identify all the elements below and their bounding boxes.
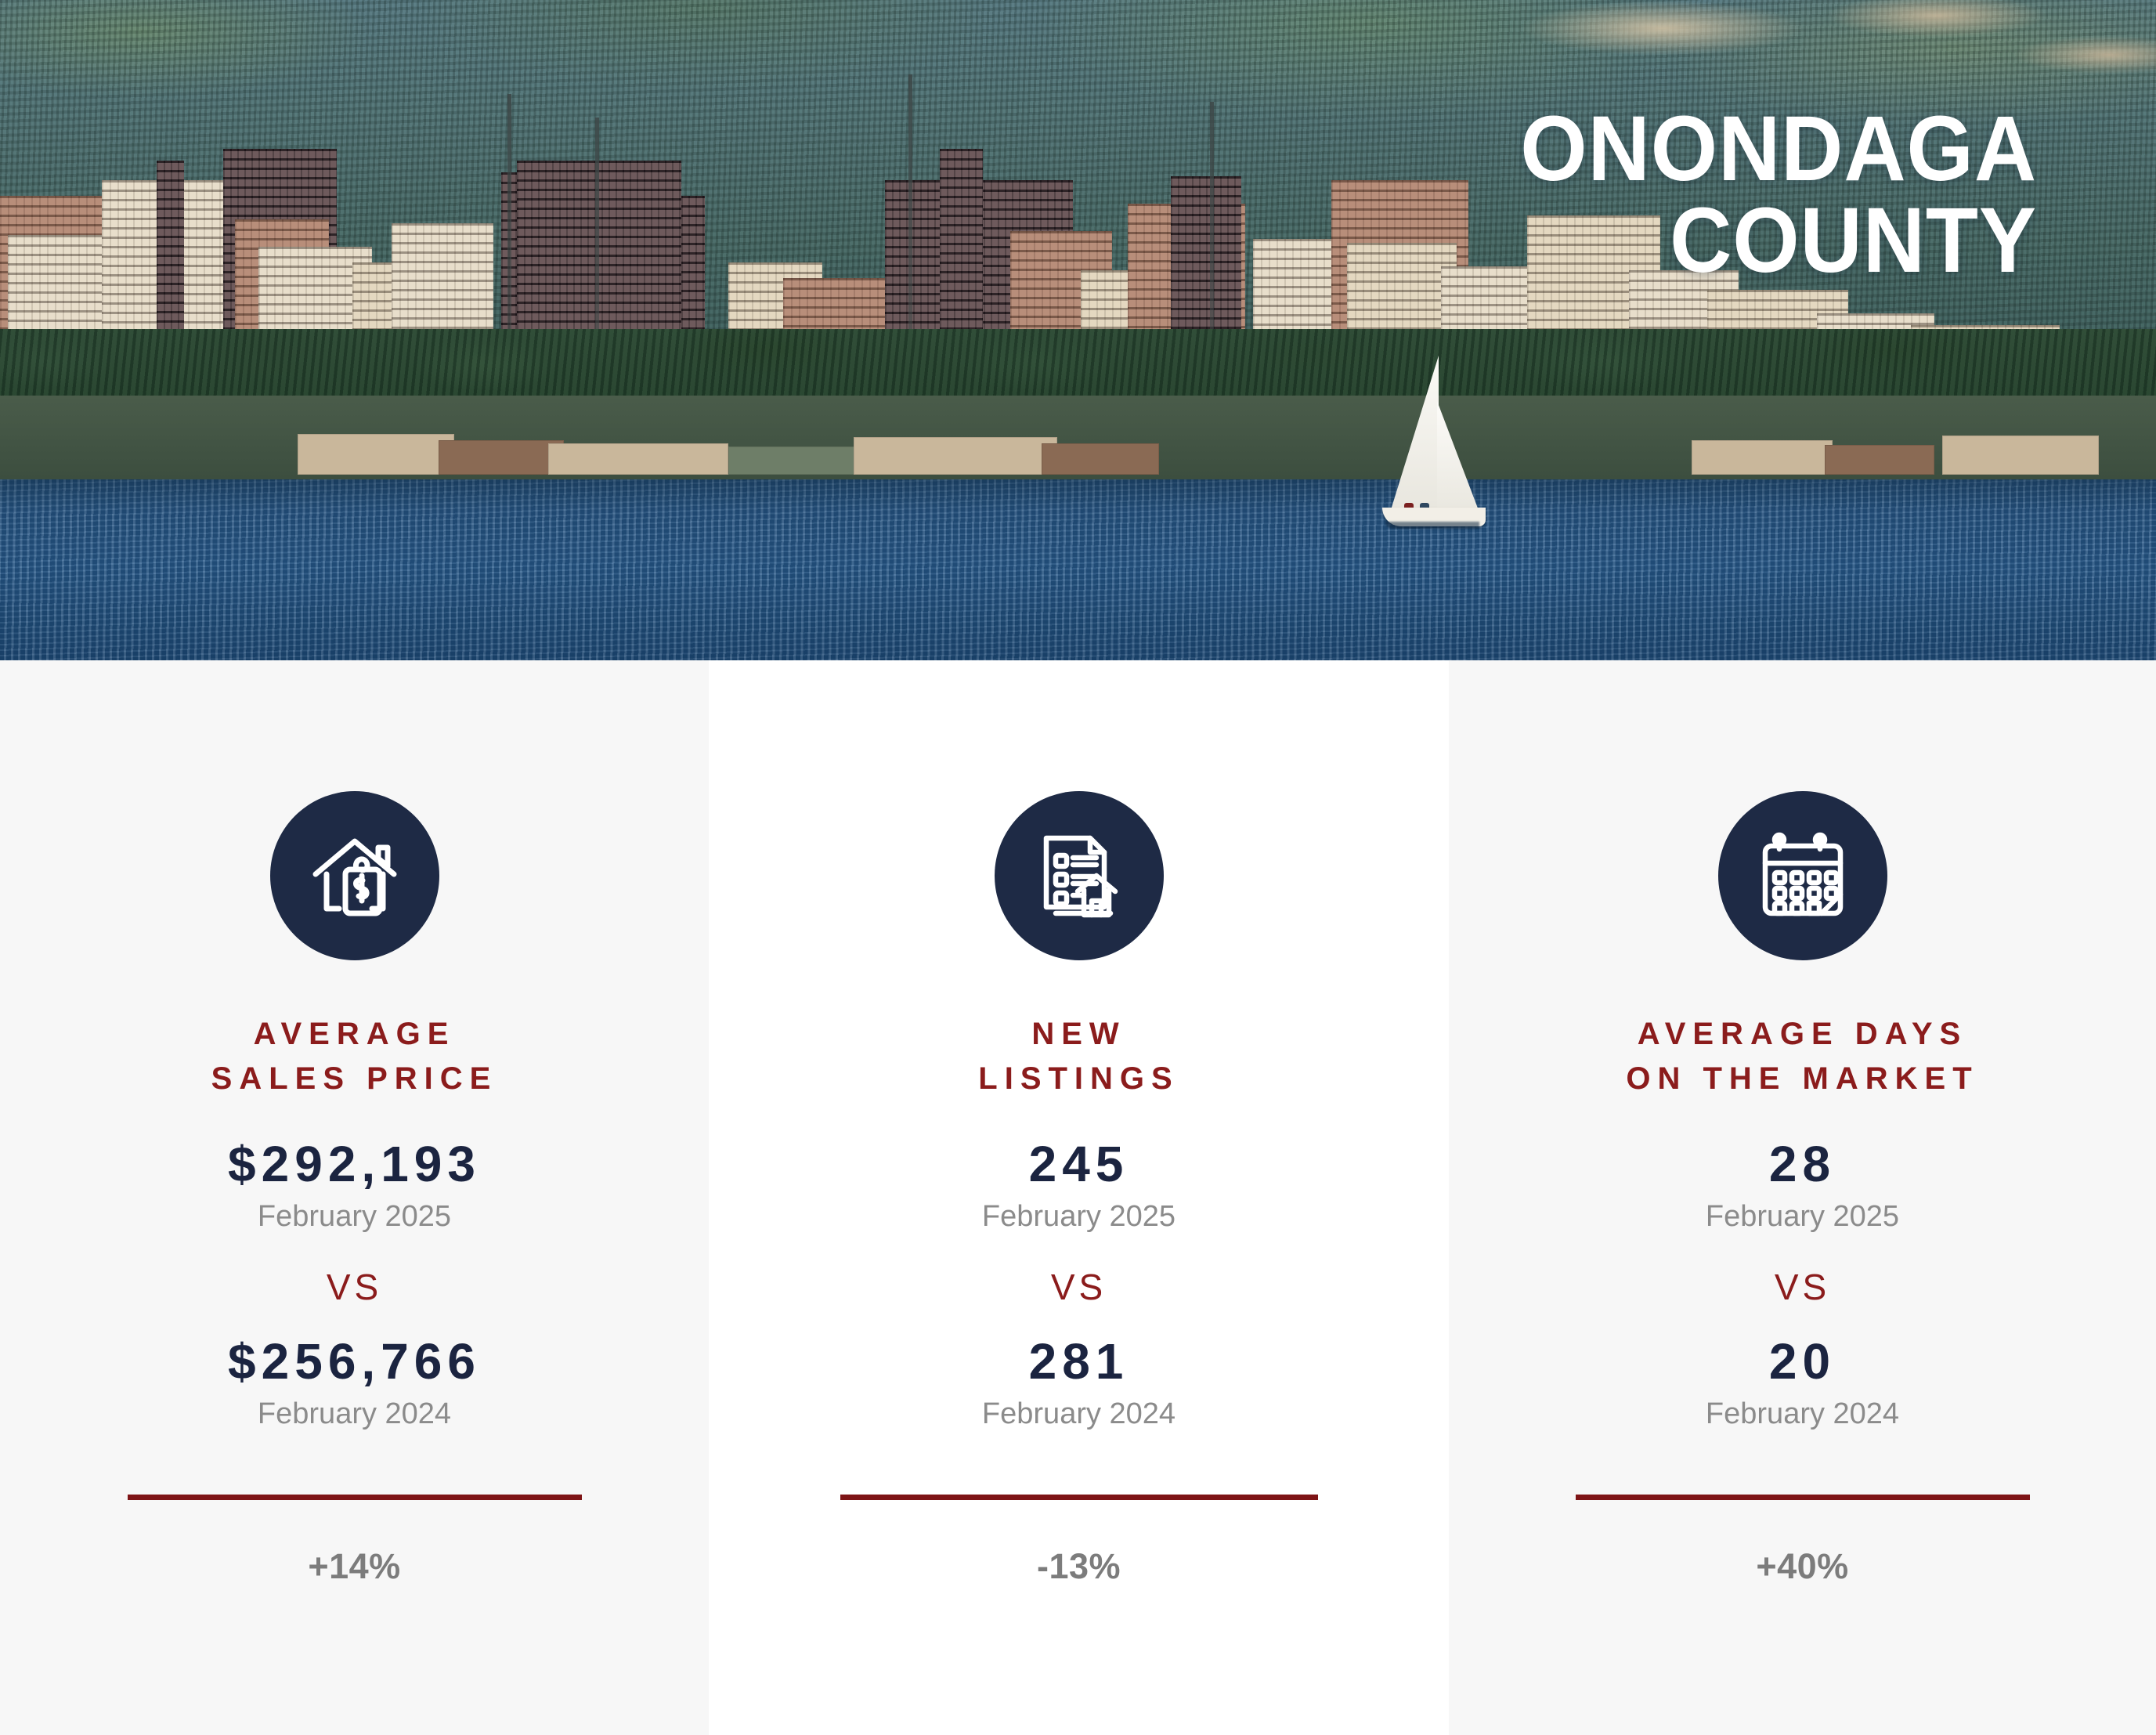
- listing-document-house-icon: [995, 791, 1164, 960]
- page-title: ONONDAGA COUNTY: [944, 103, 2037, 287]
- vs-label: VS: [327, 1269, 382, 1305]
- hero-banner: ONONDAGA COUNTY: [0, 0, 2156, 660]
- stat-card-title: AVERAGE SALES PRICE: [211, 1012, 498, 1101]
- calendar-icon: [1718, 791, 1887, 960]
- stat-card-title: NEW LISTINGS: [978, 1012, 1179, 1101]
- divider: [1576, 1495, 2030, 1500]
- divider: [128, 1495, 582, 1500]
- stat-card-average-days-on-market: AVERAGE DAYS ON THE MARKET 28 February 2…: [1449, 660, 2156, 1735]
- stat-card-new-listings: NEW LISTINGS 245 February 2025 VS 281 Fe…: [709, 660, 1449, 1735]
- title-line-1: ONONDAGA: [944, 103, 2037, 195]
- title-line-2: COUNTY: [944, 195, 2037, 287]
- prior-period: February 2024: [258, 1399, 451, 1429]
- current-period: February 2025: [258, 1202, 451, 1231]
- shoreline-buildings: [0, 396, 2156, 486]
- divider: [840, 1495, 1318, 1500]
- prior-period: February 2024: [982, 1399, 1176, 1429]
- lake-water: [0, 479, 2156, 660]
- vs-label: VS: [1775, 1269, 1830, 1305]
- hull-shadow: [1385, 522, 1479, 529]
- change-percent: +14%: [308, 1549, 400, 1584]
- distant-fields: [1451, 0, 2156, 94]
- house-price-tag-icon: [270, 791, 439, 960]
- current-value: 28: [1769, 1139, 1836, 1189]
- prior-period: February 2024: [1706, 1399, 1899, 1429]
- prior-value: $256,766: [228, 1336, 481, 1386]
- stat-card-title: AVERAGE DAYS ON THE MARKET: [1626, 1012, 1978, 1101]
- mainsail: [1390, 356, 1439, 512]
- vs-label: VS: [1051, 1269, 1107, 1305]
- jib-sail: [1437, 401, 1479, 512]
- prior-value: 20: [1769, 1336, 1836, 1386]
- change-percent: -13%: [1037, 1549, 1121, 1584]
- current-period: February 2025: [1706, 1202, 1899, 1231]
- stats-row: AVERAGE SALES PRICE $292,193 February 20…: [0, 660, 2156, 1735]
- current-value: 245: [1029, 1139, 1129, 1189]
- sailboat: [1359, 352, 1492, 533]
- prior-value: 281: [1029, 1336, 1129, 1386]
- current-period: February 2025: [982, 1202, 1176, 1231]
- stat-card-average-sales-price: AVERAGE SALES PRICE $292,193 February 20…: [0, 660, 709, 1735]
- current-value: $292,193: [228, 1139, 481, 1189]
- change-percent: +40%: [1756, 1549, 1848, 1584]
